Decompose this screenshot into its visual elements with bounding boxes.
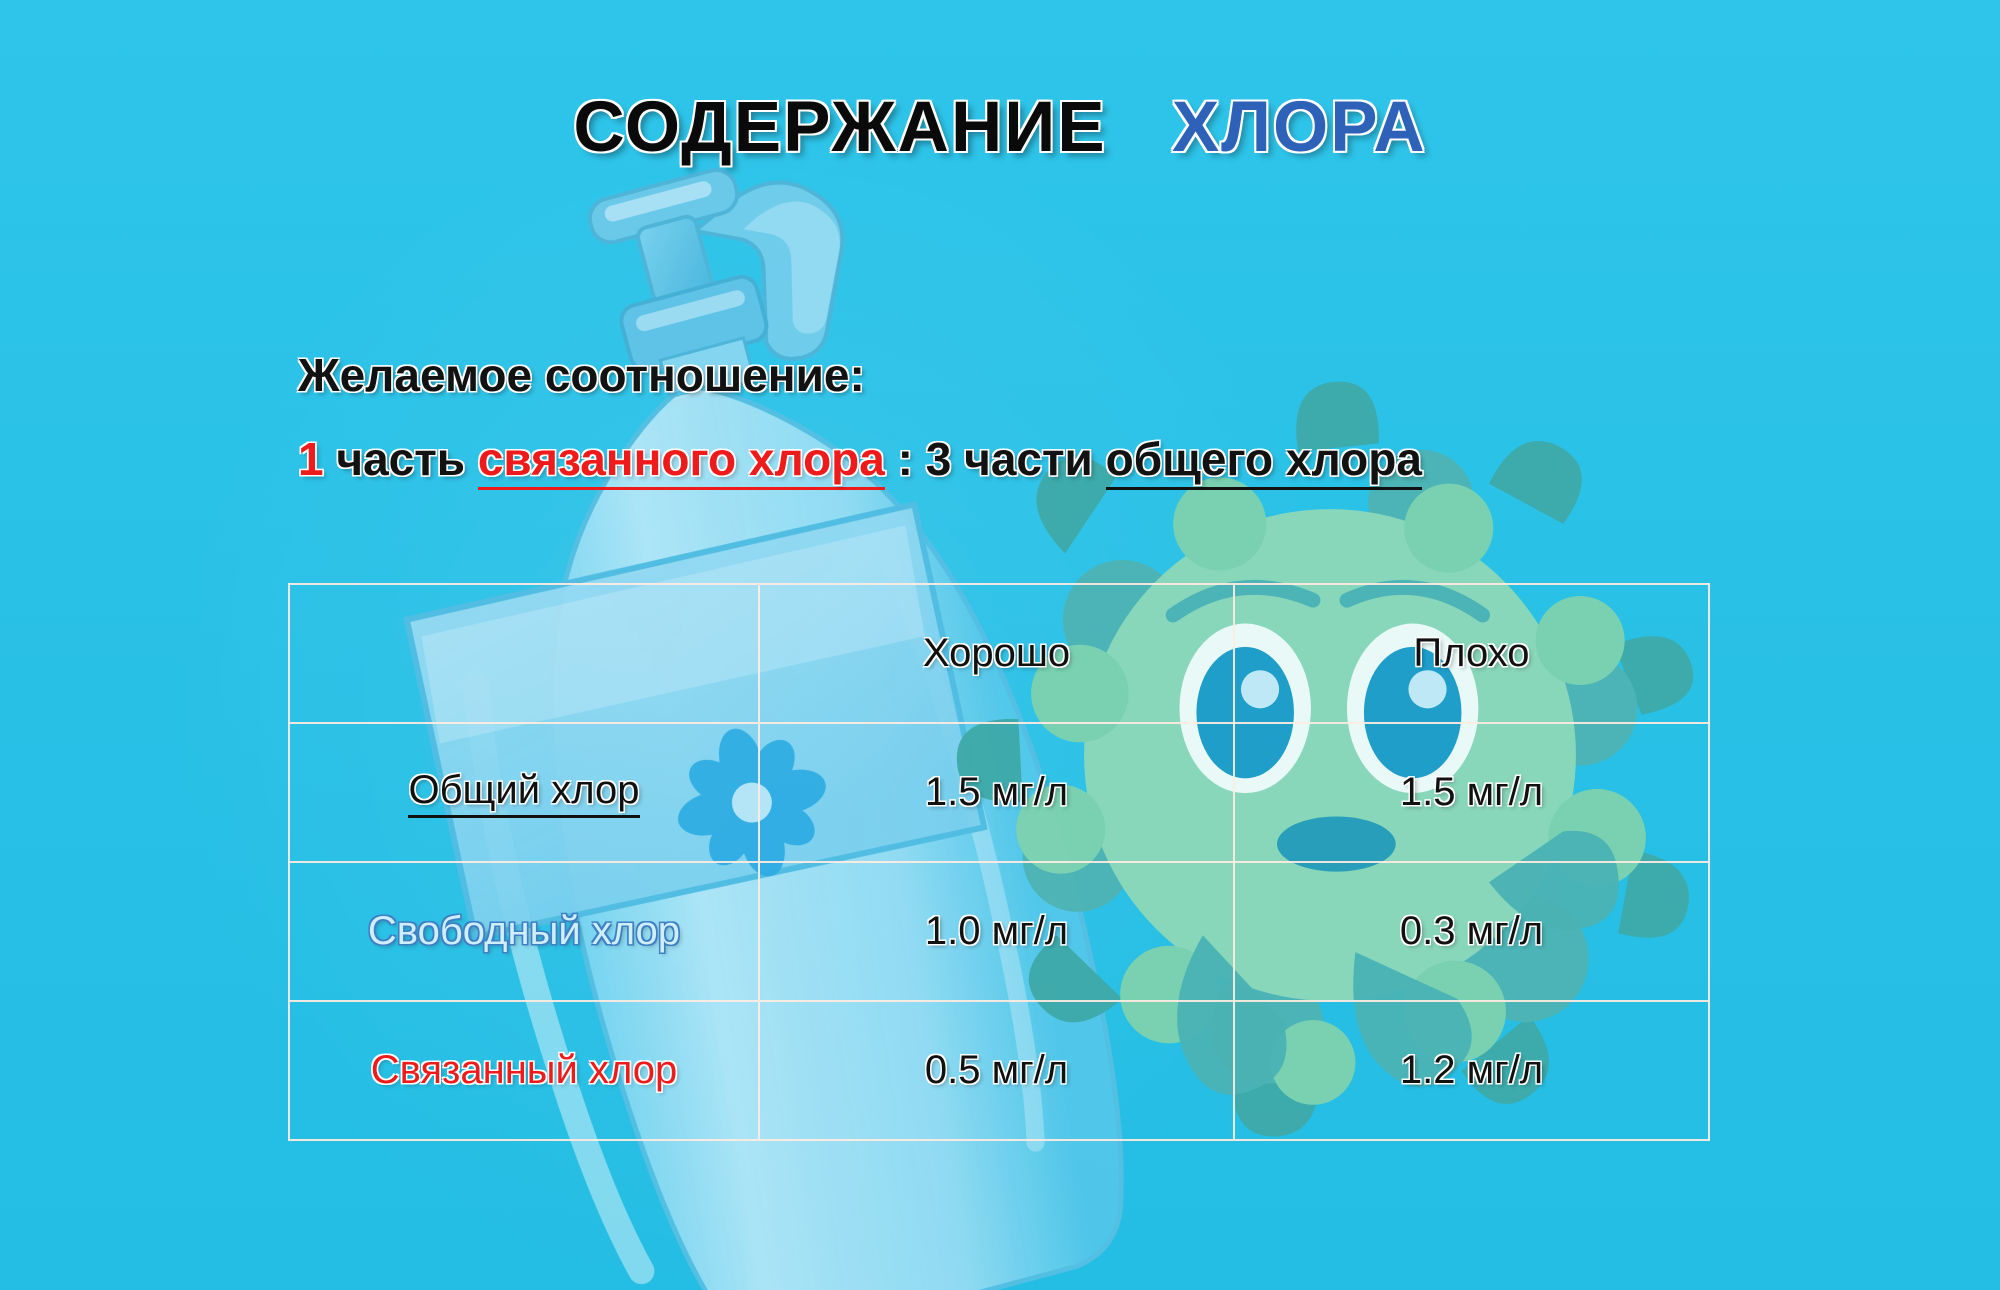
ratio-part2-number: 3 [926,432,952,486]
row-label-free-chlorine: Свободный хлор [368,909,680,954]
ratio-part1-word: часть [336,432,465,486]
table-header-row: Хорошо Плохо [289,584,1709,723]
ratio-part2-term: общего хлора [1106,432,1422,490]
value-total-good: 1.5 мг/л [925,770,1068,815]
header-cell-good: Хорошо [759,584,1234,723]
value-free-bad: 0.3 мг/л [1400,909,1543,954]
ratio-separator: : [898,432,913,486]
row-label-combined-chlorine: Связанный хлор [371,1048,678,1093]
title-word-dark: СОДЕРЖАНИЕ [573,88,1106,167]
row-label-cell-free: Свободный хлор [289,862,759,1001]
value-cell-combined-good: 0.5 мг/л [759,1001,1234,1140]
table-row: Общий хлор 1.5 мг/л 1.5 мг/л [289,723,1709,862]
value-cell-total-good: 1.5 мг/л [759,723,1234,862]
ratio-part1-term: связанного хлора [478,432,885,490]
slide-canvas: СОДЕРЖАНИЕ ХЛОРА Желаемое соотношение: 1… [0,0,2000,1290]
table-row: Свободный хлор 1.0 мг/л 0.3 мг/л [289,862,1709,1001]
ratio-line: 1 часть связанного хлора : 3 части общег… [298,432,1422,490]
ratio-part1-number: 1 [298,432,324,486]
header-cell-bad: Плохо [1234,584,1709,723]
header-cell-blank [289,584,759,723]
chlorine-levels-table: Хорошо Плохо Общий хлор 1.5 мг/л 1.5 мг/… [288,583,1710,1141]
value-cell-free-bad: 0.3 мг/л [1234,862,1709,1001]
value-cell-total-bad: 1.5 мг/л [1234,723,1709,862]
value-combined-bad: 1.2 мг/л [1400,1048,1543,1093]
row-label-cell-total: Общий хлор [289,723,759,862]
header-bad-label: Плохо [1413,631,1529,676]
header-good-label: Хорошо [923,631,1070,676]
page-title: СОДЕРЖАНИЕ ХЛОРА [0,92,2000,163]
row-label-total-chlorine: Общий хлор [408,768,639,818]
table-row: Связанный хлор 0.5 мг/л 1.2 мг/л [289,1001,1709,1140]
value-free-good: 1.0 мг/л [925,909,1068,954]
title-word-blue: ХЛОРА [1172,88,1427,167]
value-cell-free-good: 1.0 мг/л [759,862,1234,1001]
value-combined-good: 0.5 мг/л [925,1048,1068,1093]
value-total-bad: 1.5 мг/л [1400,770,1543,815]
ratio-part2-word: части [964,432,1093,486]
value-cell-combined-bad: 1.2 мг/л [1234,1001,1709,1140]
subtitle-desired-ratio: Желаемое соотношение: [298,348,865,402]
row-label-cell-combined: Связанный хлор [289,1001,759,1140]
